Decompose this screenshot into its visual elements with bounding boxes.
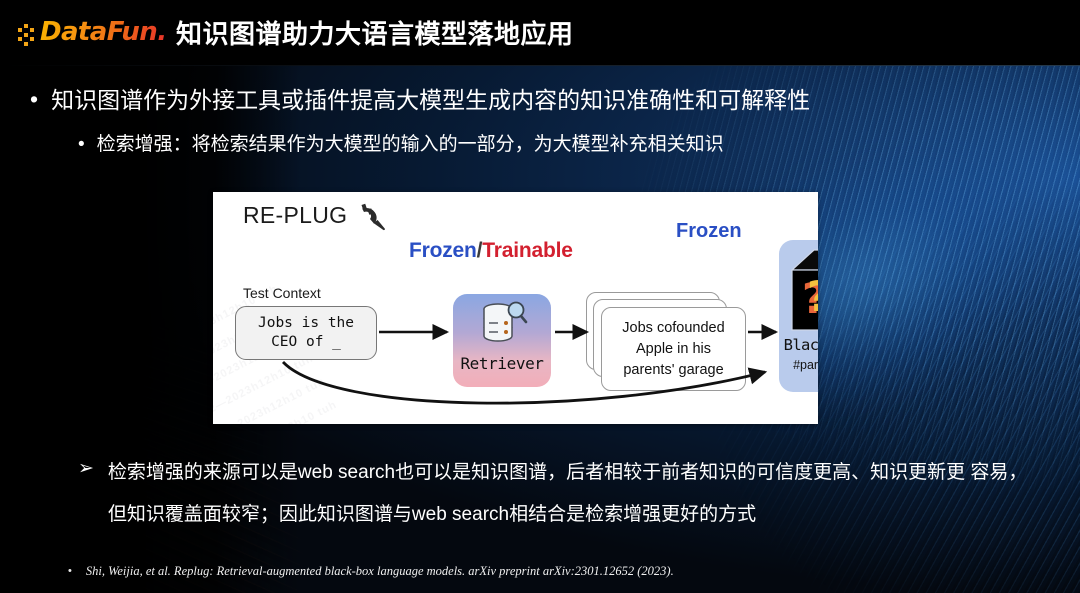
page-title: 知识图谱助力大语言模型落地应用: [176, 14, 574, 51]
document-line3: parents' garage: [623, 360, 723, 381]
document-card-front: Jobs cofounded Apple in his parents' gar…: [601, 307, 746, 391]
bullet-arrow-marker: ➢: [78, 452, 94, 486]
database-search-icon: [476, 301, 528, 347]
retriever-box: Retriever: [453, 294, 551, 387]
lm-frozen-label: Frozen: [676, 220, 742, 243]
test-context-label: Test Context: [243, 285, 321, 301]
figure-title: RE-PLUG: [243, 202, 347, 229]
lm-label: Black-box LM: [779, 336, 818, 354]
retriever-label: Retriever: [453, 354, 551, 373]
document-line2: Apple in his: [636, 339, 711, 360]
bullet-level2: • 检索增强：将检索结果作为大模型的输入的一部分，为大模型补充相关知识: [78, 131, 1038, 159]
replug-figure: 23.51.52—2023h12h10 tuh23.51.52—2023h12h…: [213, 192, 818, 424]
footnote: • Shi, Weijia, et al. Replug: Retrieval-…: [68, 562, 674, 580]
power-plug-icon: [358, 203, 388, 231]
bullet-marker: •: [78, 131, 85, 159]
black-box-lm: ?? Black-box LM #param. >100B: [779, 240, 818, 392]
datafun-logo-text: DataFun.: [40, 17, 166, 47]
datafun-logo: DataFun.: [18, 17, 170, 51]
bullet-marker: •: [30, 84, 38, 114]
bullet-level1-text: 知识图谱作为外接工具或插件提高大模型生成内容的知识准确性和可解释性: [51, 84, 810, 116]
test-context-box: Jobs is the CEO of _: [235, 306, 377, 360]
bullet-level3-text: 检索增强的来源可以是web search也可以是知识图谱，后者相较于前者知识的可…: [108, 452, 1038, 536]
bullet-level1: • 知识图谱作为外接工具或插件提高大模型生成内容的知识准确性和可解释性: [30, 84, 1040, 116]
legend-trainable: Trainable: [482, 239, 572, 262]
footnote-citation: Shi, Weijia, et al. Replug: Retrieval-au…: [86, 562, 674, 580]
legend-frozen: Frozen: [409, 239, 477, 262]
lm-sublabel: #param. >100B: [779, 358, 818, 372]
retrieved-documents: Jobs cofounded Apple in his parents' gar…: [586, 292, 746, 390]
test-context-line1: Jobs is the: [258, 314, 354, 333]
bullet-level2-text: 检索增强：将检索结果作为大模型的输入的一部分，为大模型补充相关知识: [97, 131, 724, 159]
question-mark-glyph: ??: [807, 276, 818, 318]
test-context-line2: CEO of _: [271, 333, 341, 352]
figure-legend: Frozen/Trainable: [409, 239, 573, 263]
bullet-level3: ➢ 检索增强的来源可以是web search也可以是知识图谱，后者相较于前者知识…: [78, 452, 1038, 536]
footnote-marker: •: [68, 562, 72, 580]
document-line1: Jobs cofounded: [622, 318, 724, 339]
slide-root: DataFun. 知识图谱助力大语言模型落地应用 • 知识图谱作为外接工具或插件…: [0, 0, 1080, 593]
title-bar: DataFun. 知识图谱助力大语言模型落地应用: [0, 0, 1080, 66]
